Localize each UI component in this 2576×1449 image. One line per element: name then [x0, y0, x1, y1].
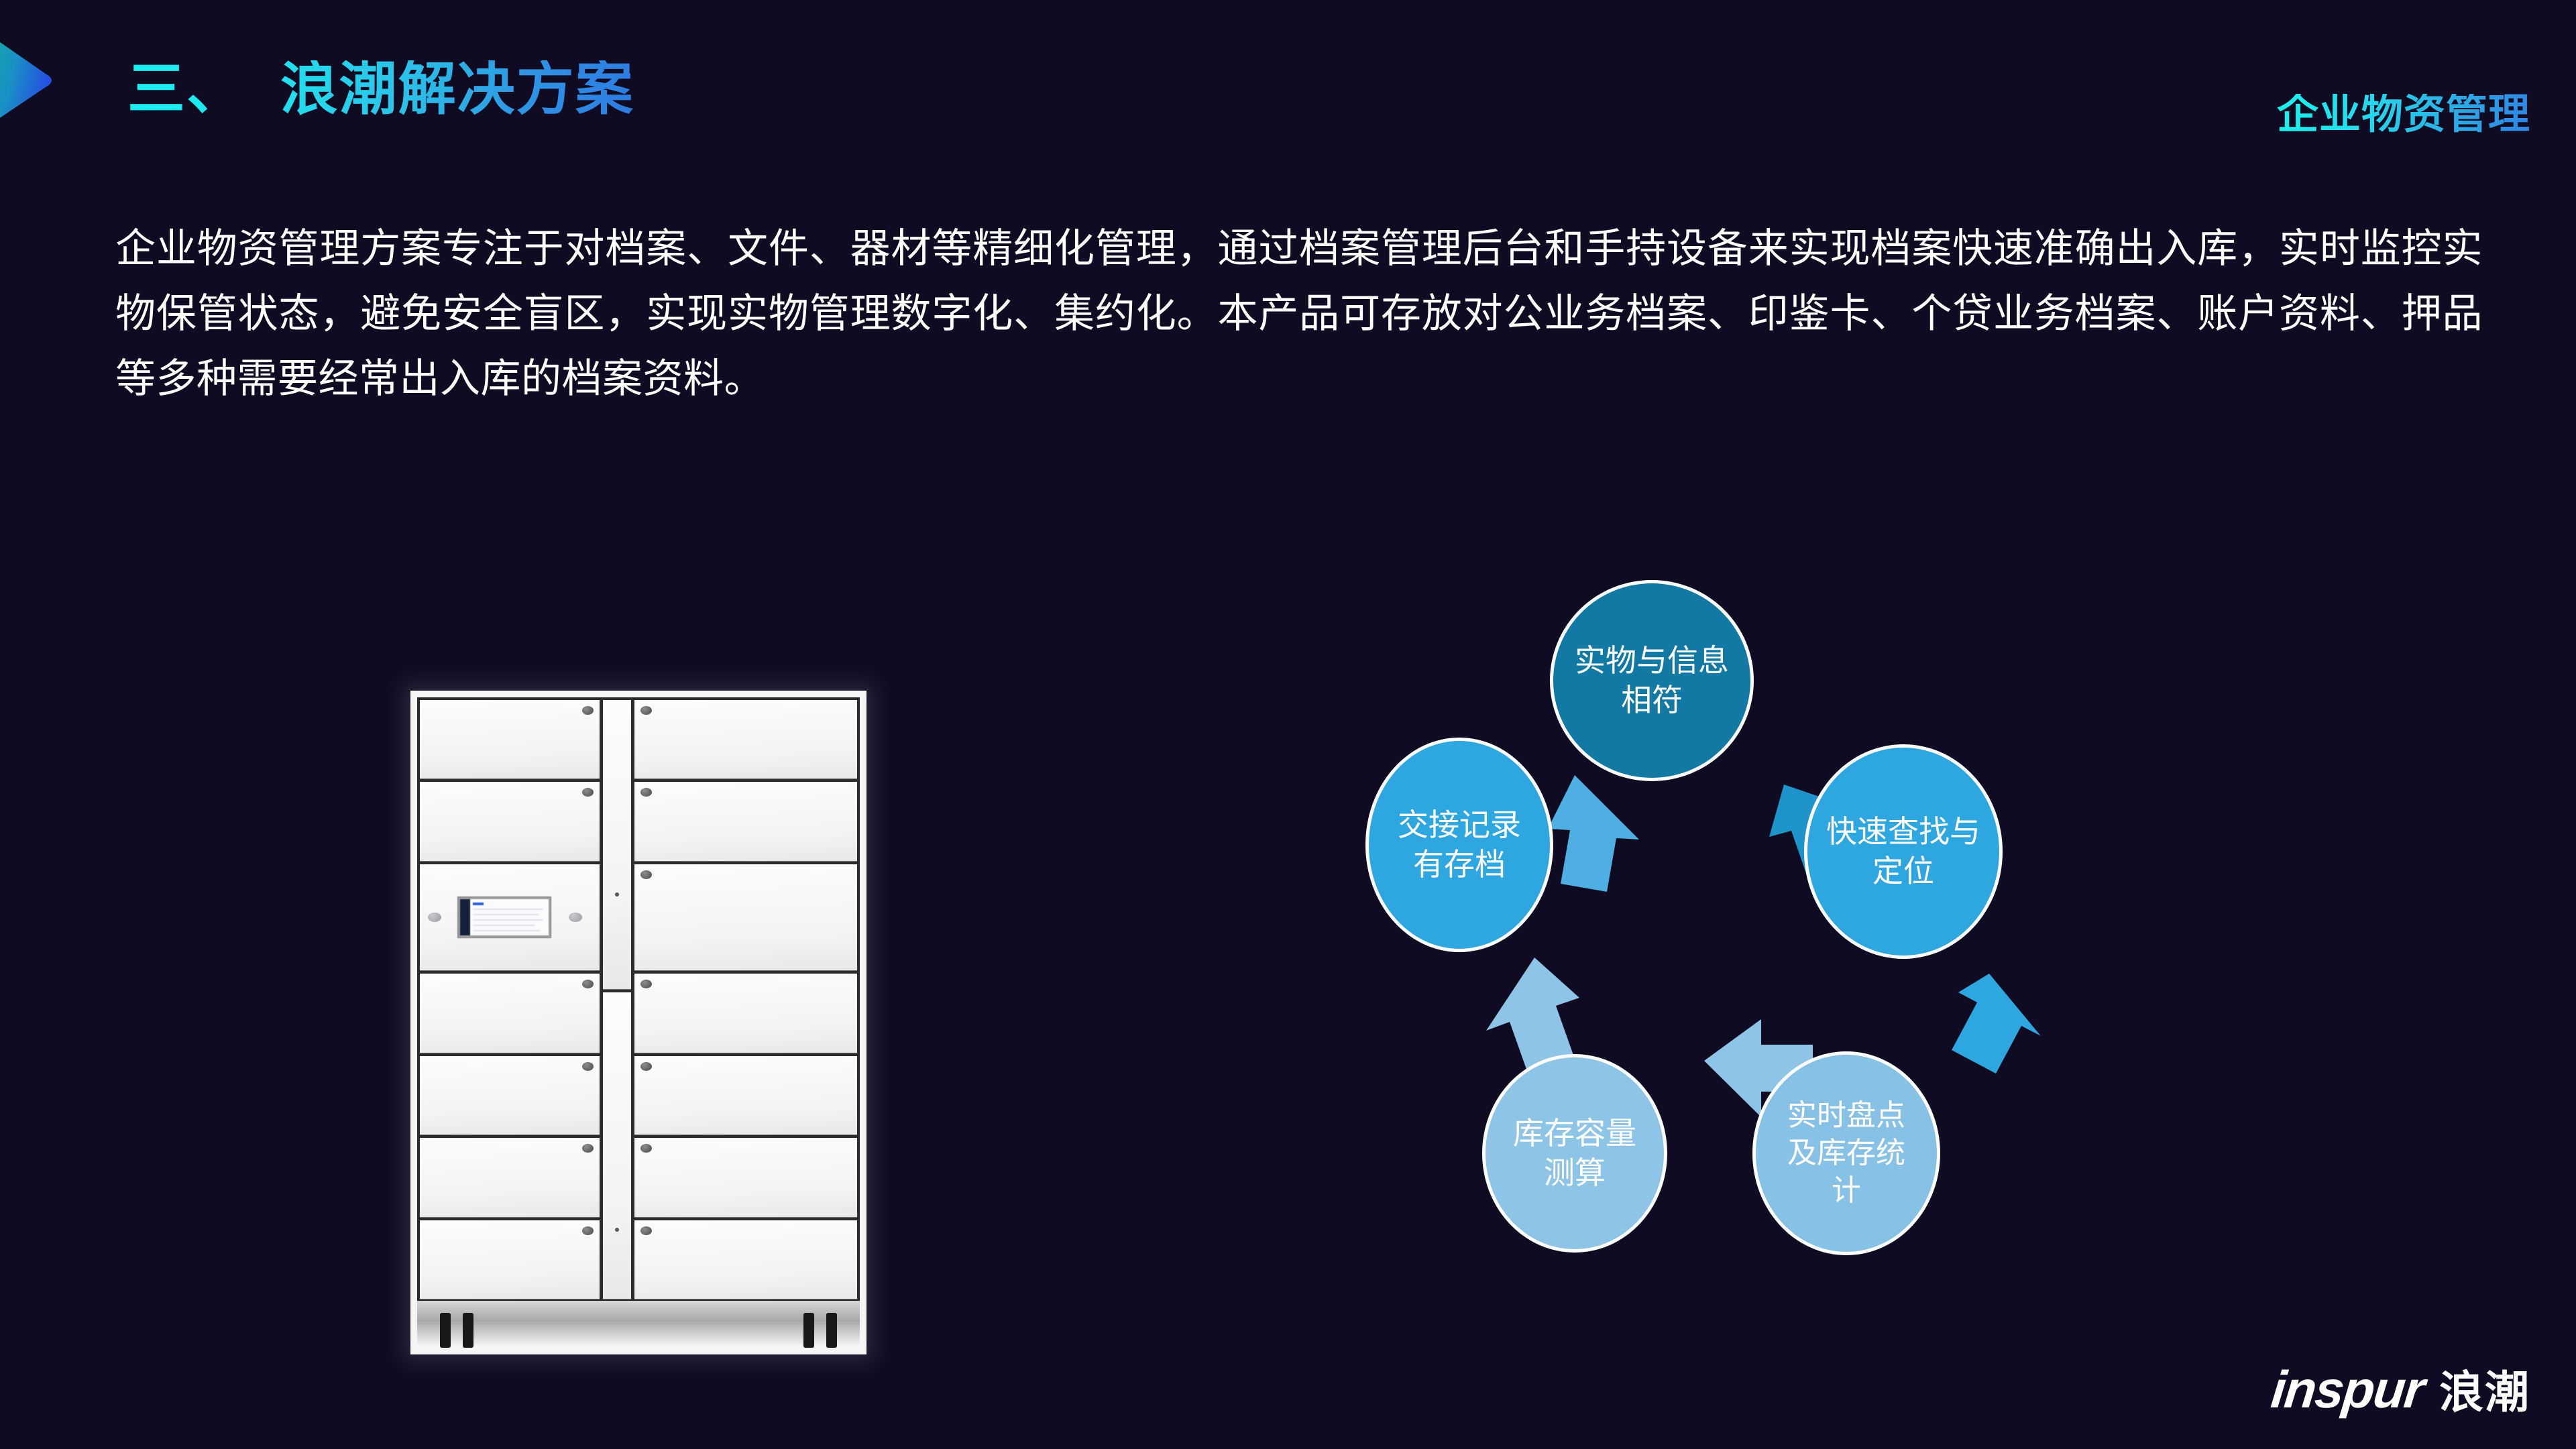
door-knob-icon: [640, 788, 652, 797]
locker-door: [634, 1220, 857, 1299]
inspur-chinese-name: 浪潮: [2439, 1356, 2530, 1421]
door-knob-icon: [640, 706, 652, 715]
cycle-node-bottom-left-label: 库存容量测算: [1503, 1114, 1646, 1193]
product-image-locker-cabinet: [410, 691, 866, 1354]
locker-door: [420, 1138, 600, 1217]
locker-door: [634, 864, 857, 972]
screen-row: [473, 914, 539, 915]
cycle-node-right[interactable]: 快速查找与定位: [1804, 744, 2003, 959]
cycle-node-right-label: 快速查找与定位: [1825, 812, 1982, 891]
locker-door: [420, 1220, 600, 1299]
locker-door: [634, 782, 857, 861]
locker-door: [420, 782, 600, 861]
section-label: 企业物资管理: [2277, 94, 2530, 135]
panel-knob-left-icon: [428, 913, 441, 922]
locker-door: [420, 1056, 600, 1135]
door-knob-icon: [582, 706, 594, 715]
inspur-logo: inspur 浪潮: [2272, 1356, 2530, 1421]
cabinet-column-left: [420, 700, 600, 1299]
screen-row: [473, 919, 543, 921]
cycle-diagram: 实物与信息相符 快速查找与定位 实时盘点及库存统计 库存容量测算 交接记录有存档: [1374, 563, 2219, 1314]
door-knob-icon: [582, 1062, 594, 1071]
cabinet-column-middle: [603, 700, 631, 1299]
slide-root: 三、 浪潮解决方案 企业物资管理 企业物资管理方案专注于对档案、文件、器材等精细…: [0, 0, 2576, 1449]
screen-row: [473, 909, 543, 910]
cabinet-column-right: [634, 700, 857, 1299]
cycle-node-bottom-right-label: 实时盘点及库存统计: [1773, 1097, 1919, 1210]
screen-logo-icon: [473, 903, 484, 905]
tall-locker-door: [603, 700, 631, 990]
cycle-node-bottom-right[interactable]: 实时盘点及库存统计: [1752, 1051, 1940, 1255]
page-title: 三、 浪潮解决方案: [127, 60, 634, 118]
pin-lock-icon: [615, 1228, 619, 1232]
cycle-node-bottom-left[interactable]: 库存容量测算: [1482, 1054, 1667, 1253]
locker-door: [420, 700, 600, 779]
arrow-left-to-top: [1548, 775, 1639, 892]
cabinet-base: [417, 1301, 860, 1345]
door-knob-icon: [640, 1226, 652, 1235]
cycle-node-left[interactable]: 交接记录有存档: [1365, 738, 1553, 952]
locker-door: [420, 974, 600, 1053]
door-knob-icon: [582, 1226, 594, 1235]
cabinet-frame: [417, 697, 860, 1302]
caster-wheel-icon: [826, 1313, 837, 1348]
cycle-node-left-label: 交接记录有存档: [1386, 805, 1532, 884]
caster-wheel-icon: [463, 1313, 473, 1348]
inspur-wordmark: inspur: [2268, 1359, 2426, 1420]
pin-lock-icon: [615, 892, 619, 896]
body-paragraph: 企业物资管理方案专注于对档案、文件、器材等精细化管理，通过档案管理后台和手持设备…: [115, 216, 2483, 412]
door-knob-icon: [582, 1144, 594, 1153]
door-knob-icon: [582, 788, 594, 797]
control-panel-door: [420, 864, 600, 972]
cycle-node-top[interactable]: 实物与信息相符: [1550, 580, 1754, 781]
locker-door: [634, 974, 857, 1053]
door-knob-icon: [640, 980, 652, 988]
touchscreen-display[interactable]: [457, 896, 551, 938]
screen-row: [473, 925, 535, 926]
caster-wheel-icon: [803, 1313, 814, 1348]
tall-locker-door: [603, 992, 631, 1299]
cycle-node-top-label: 实物与信息相符: [1571, 641, 1733, 720]
locker-door: [634, 700, 857, 779]
panel-knob-right-icon: [569, 913, 582, 922]
door-knob-icon: [582, 980, 594, 988]
screen-sidebar: [460, 899, 470, 935]
caster-wheel-icon: [440, 1313, 451, 1348]
arrow-right-to-bottomright: [1952, 974, 2041, 1074]
screen-content: [470, 899, 549, 935]
door-knob-icon: [640, 870, 652, 879]
screen-row: [473, 930, 540, 931]
door-knob-icon: [640, 1062, 652, 1071]
locker-door: [634, 1138, 857, 1217]
door-knob-icon: [640, 1144, 652, 1153]
locker-door: [634, 1056, 857, 1135]
chevron-decoration-icon: [0, 19, 64, 139]
